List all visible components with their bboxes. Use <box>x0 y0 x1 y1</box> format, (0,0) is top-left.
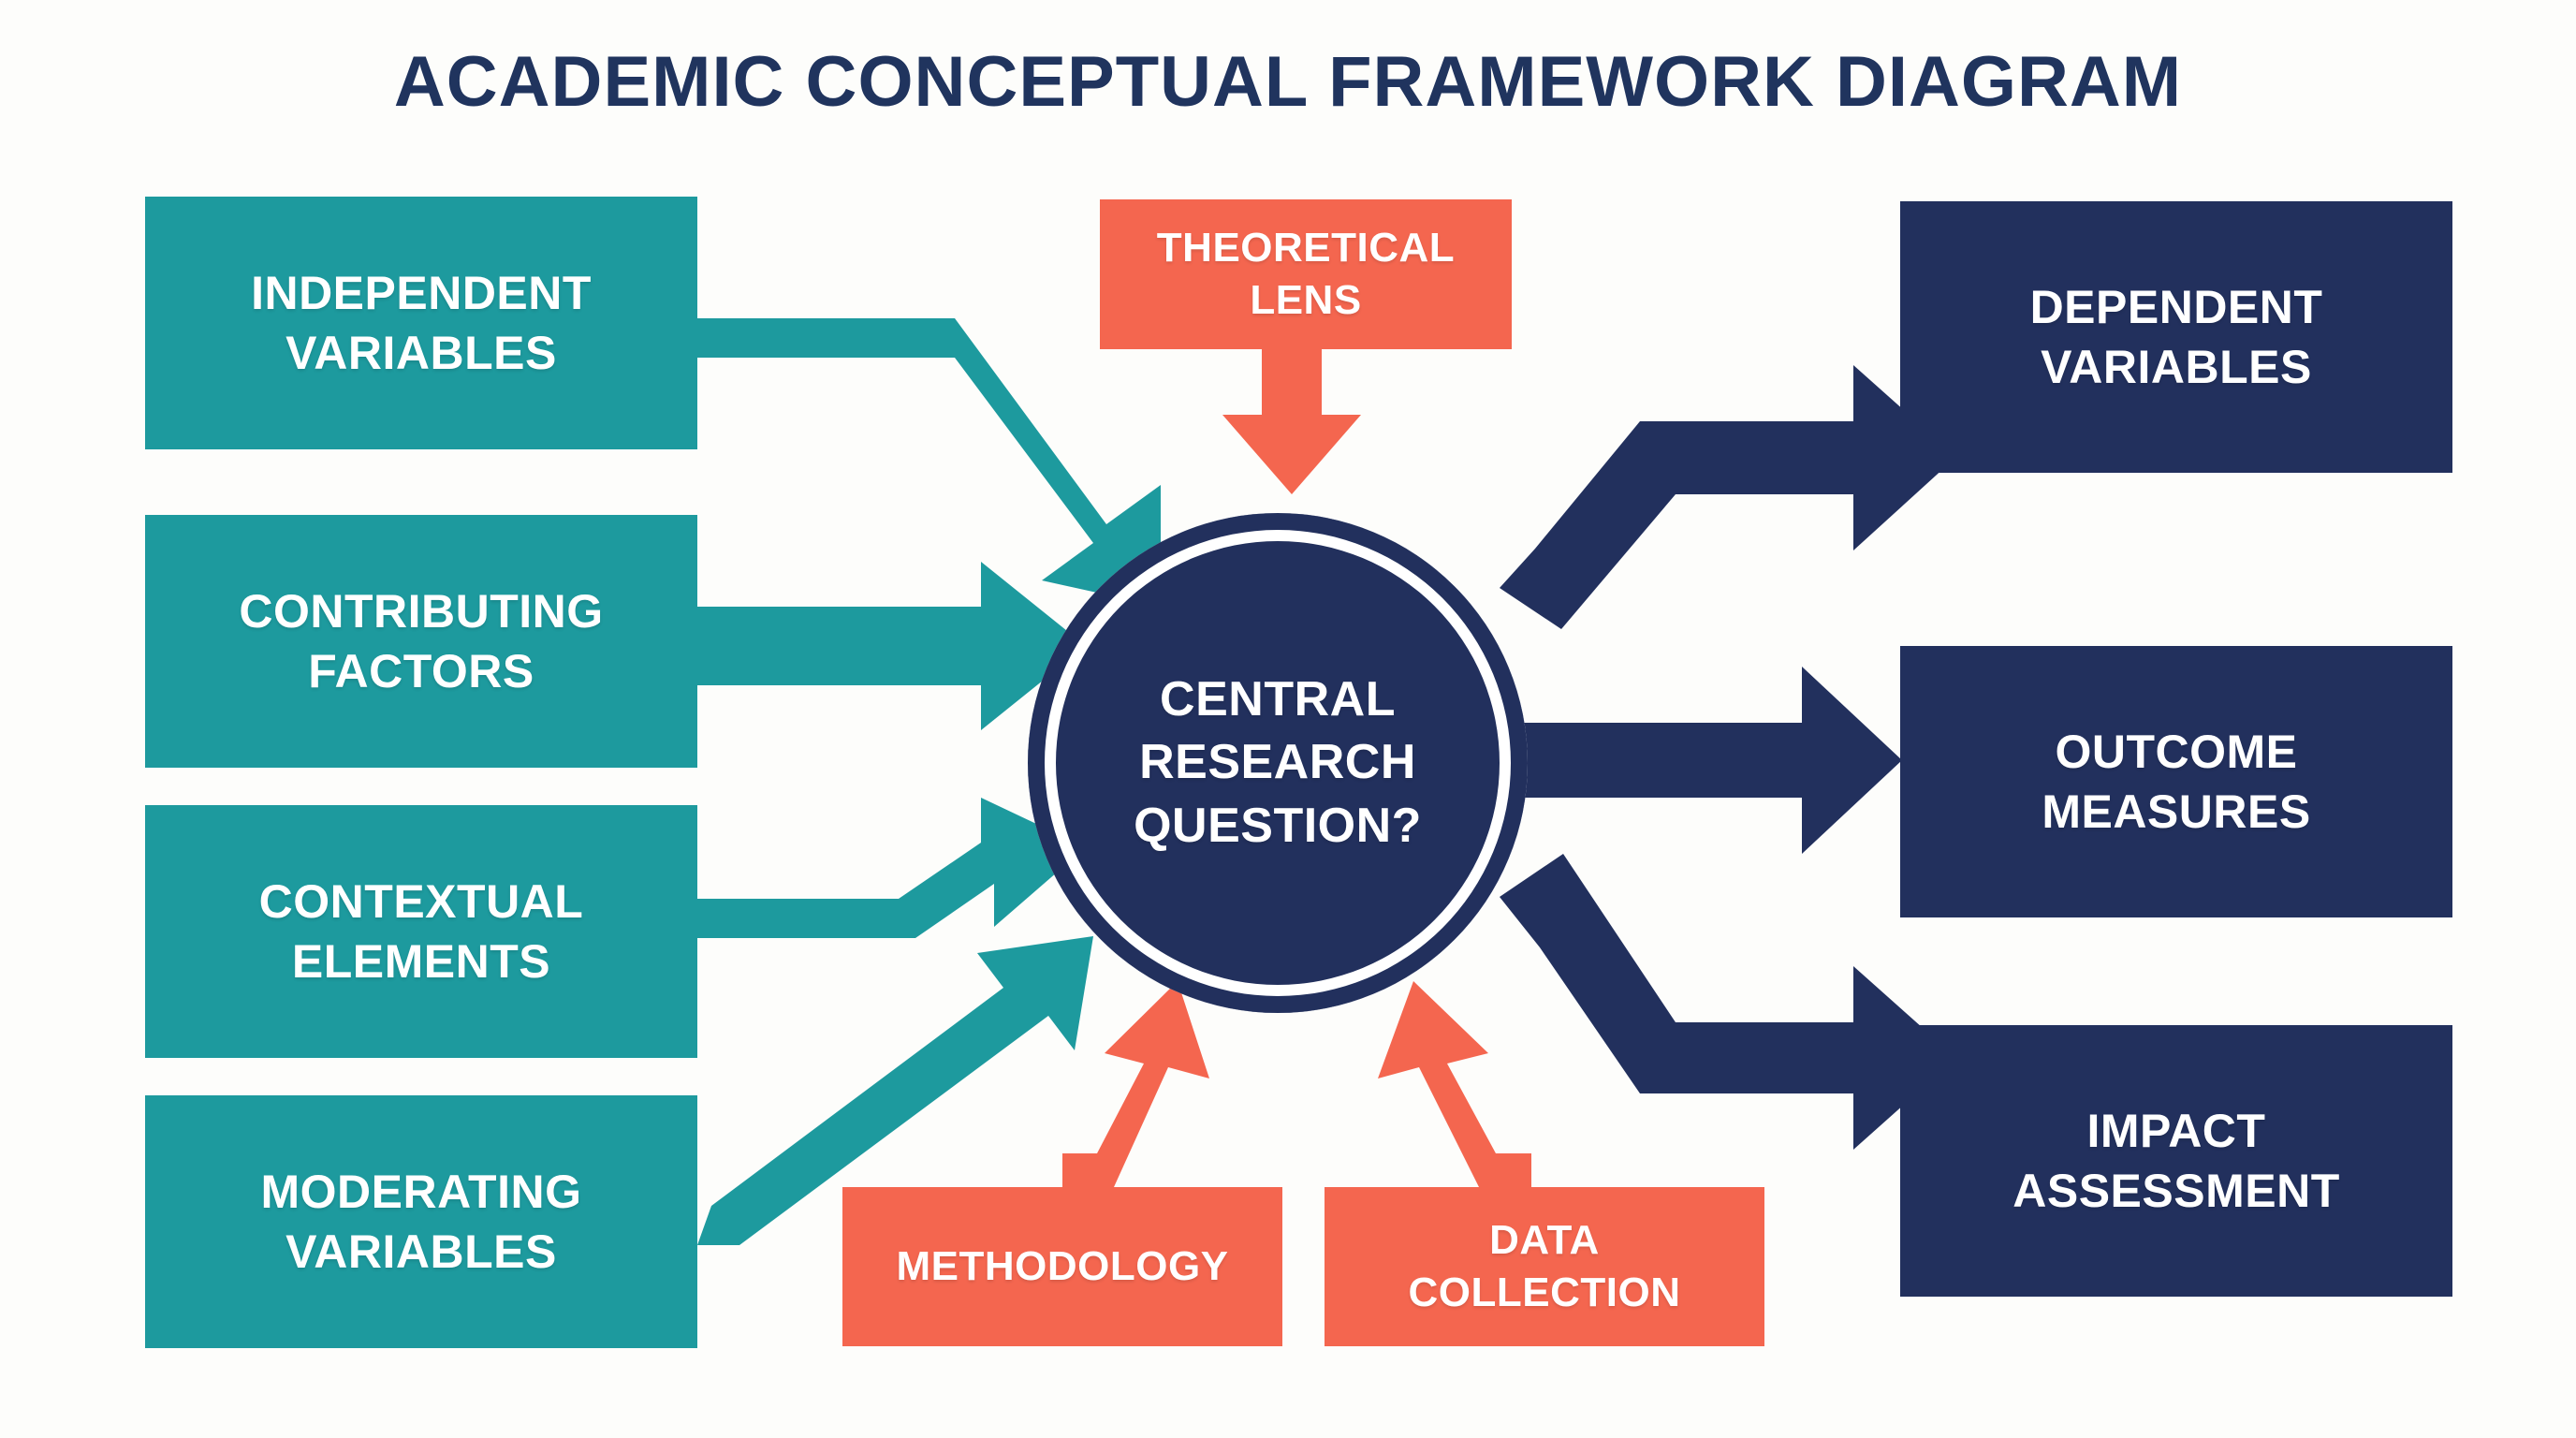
arrow-data-collection-to-center <box>1378 981 1531 1187</box>
node-dependent-variables[interactable]: DEPENDENT VARIABLES <box>1900 201 2452 473</box>
node-label: CONTRIBUTING FACTORS <box>239 581 603 701</box>
node-independent-variables[interactable]: INDEPENDENT VARIABLES <box>145 197 697 449</box>
node-contributing-factors[interactable]: CONTRIBUTING FACTORS <box>145 515 697 768</box>
node-label: DATA COLLECTION <box>1409 1214 1681 1320</box>
arrow-independent-variables-to-center <box>697 318 1161 607</box>
node-central-research-question[interactable]: CENTRAL RESEARCH QUESTION? <box>1028 513 1528 1013</box>
node-label: OUTCOME MEASURES <box>2042 722 2310 842</box>
arrow-contextual-elements-to-center <box>697 798 1086 938</box>
node-label: DEPENDENT VARIABLES <box>2030 277 2323 397</box>
node-data-collection[interactable]: DATA COLLECTION <box>1325 1187 1764 1346</box>
node-label: MODERATING VARIABLES <box>261 1162 582 1282</box>
diagram-canvas: ACADEMIC CONCEPTUAL FRAMEWORK DIAGRAM IN… <box>0 0 2576 1438</box>
node-moderating-variables[interactable]: MODERATING VARIABLES <box>145 1095 697 1348</box>
arrow-methodology-to-center <box>1062 981 1209 1187</box>
arrow-center-to-outcome-measures <box>1516 667 1902 854</box>
arrow-contributing-factors-to-center <box>697 562 1086 730</box>
arrow-center-to-impact-assessment <box>1500 854 1956 1150</box>
node-theoretical-lens[interactable]: THEORETICAL LENS <box>1100 199 1512 349</box>
node-label: CONTEXTUAL ELEMENTS <box>259 872 584 991</box>
node-contextual-elements[interactable]: CONTEXTUAL ELEMENTS <box>145 805 697 1058</box>
node-label: IMPACT ASSESSMENT <box>2012 1101 2340 1221</box>
node-impact-assessment[interactable]: IMPACT ASSESSMENT <box>1900 1025 2452 1297</box>
arrow-center-to-dependent-variables <box>1500 365 1956 629</box>
node-label: METHODOLOGY <box>896 1240 1228 1293</box>
node-label: INDEPENDENT VARIABLES <box>251 263 592 383</box>
node-outcome-measures[interactable]: OUTCOME MEASURES <box>1900 646 2452 917</box>
node-label: THEORETICAL LENS <box>1157 222 1455 328</box>
arrow-theoretical-lens-to-center <box>1222 349 1361 494</box>
node-label: CENTRAL RESEARCH QUESTION? <box>1134 668 1422 858</box>
node-methodology[interactable]: METHODOLOGY <box>842 1187 1282 1346</box>
